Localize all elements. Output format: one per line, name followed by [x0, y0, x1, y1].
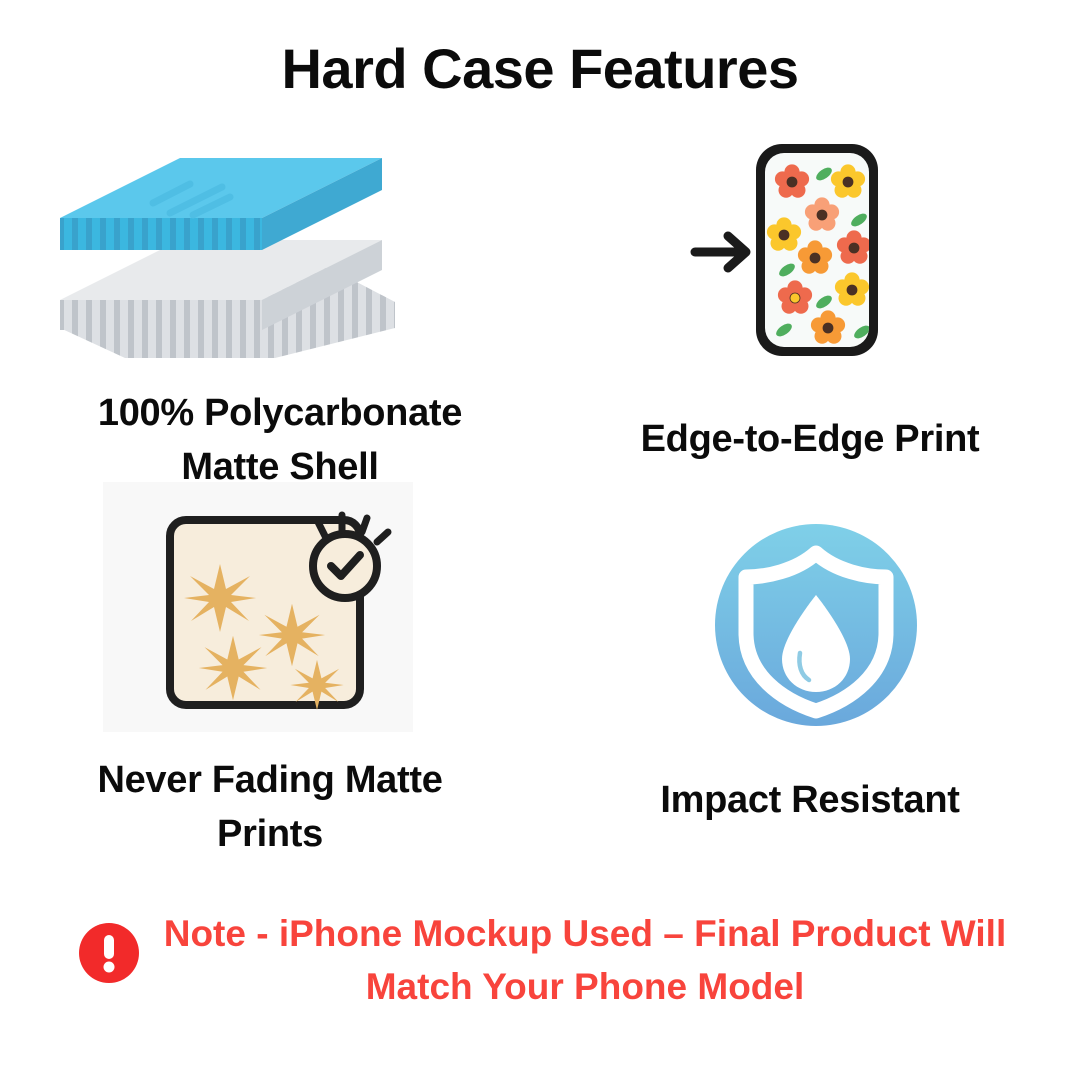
note-text: Note - iPhone Mockup Used – Final Produc… [130, 908, 1040, 1013]
arrow-right-icon [695, 236, 746, 268]
feature-label: Never Fading Matte Prints [20, 754, 520, 862]
sparkles-check-icon [20, 470, 520, 740]
shield-droplet-icon [560, 505, 1060, 750]
feature-label: Impact Resistant [560, 774, 1060, 828]
feature-label: Edge-to-Edge Print [560, 413, 1060, 467]
top-layer-shape [60, 158, 382, 250]
feature-never-fading-prints: Never Fading Matte Prints [20, 470, 520, 862]
feature-edge-to-edge-print: Edge-to-Edge Print [560, 130, 1060, 467]
feature-polycarbonate-shell: 100% Polycarbonate Matte Shell [30, 150, 530, 495]
stacked-layers-icon [30, 150, 530, 365]
page-title: Hard Case Features [0, 36, 1080, 101]
phone-floral-print-icon [560, 130, 1060, 375]
infographic-root: Hard Case Features [0, 0, 1080, 1080]
bottom-layer-shape [60, 240, 395, 358]
feature-impact-resistant: Impact Resistant [560, 505, 1060, 828]
